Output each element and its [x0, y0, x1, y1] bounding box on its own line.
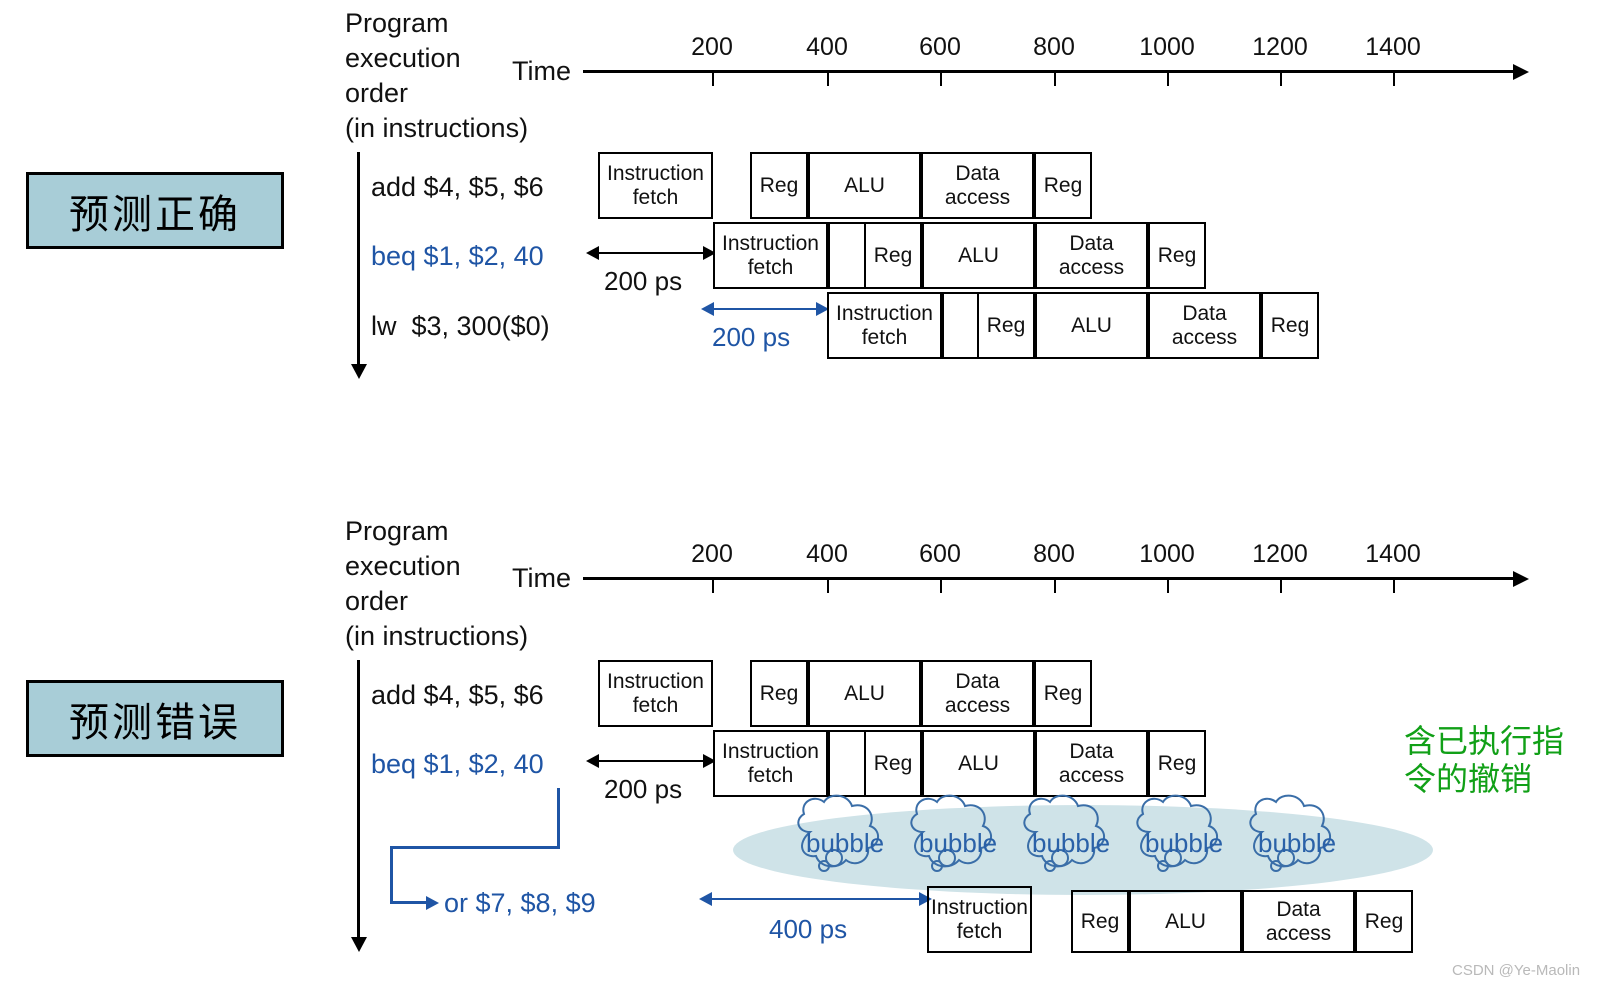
- axis-tick-label: 800: [1014, 33, 1094, 62]
- time-axis-label-bottom: Time: [512, 563, 571, 594]
- measure-arrow-line: [597, 252, 707, 254]
- time-axis-label-top: Time: [512, 56, 571, 87]
- instruction-label: or $7, $8, $9: [444, 888, 596, 919]
- branch-redirect-arrow-tip: [426, 896, 439, 910]
- stage-data-access: Dataaccess: [1035, 730, 1148, 797]
- bubble-label: bubble: [1032, 828, 1110, 859]
- branch-redirect-horizontal-upper: [390, 846, 560, 849]
- axis-tick-label: 1200: [1235, 540, 1325, 569]
- branch-redirect-vertical-lower: [390, 846, 393, 903]
- axis-tick: [1167, 73, 1169, 86]
- program-order-arrow-line-top: [357, 152, 360, 364]
- axis-tick-label: 600: [900, 540, 980, 569]
- axis-tick: [1280, 73, 1282, 86]
- measure-label: 200 ps: [712, 322, 790, 353]
- measure-label: 200 ps: [604, 266, 682, 297]
- axis-tick: [1393, 580, 1395, 593]
- instruction-label: add $4, $5, $6: [371, 172, 544, 203]
- stage-data-access: Dataaccess: [1148, 292, 1261, 359]
- stage-data-access: Dataaccess: [921, 660, 1034, 727]
- axis-tick-label: 1000: [1122, 540, 1212, 569]
- time-axis-arrowhead-bottom: [1513, 571, 1529, 587]
- time-axis-arrowhead-top: [1513, 64, 1529, 80]
- axis-tick-label: 1400: [1348, 540, 1438, 569]
- instruction-label: beq $1, $2, 40: [371, 749, 544, 780]
- stage-instruction-fetch: Instructionfetch: [713, 222, 828, 289]
- measure-arrow-tip-left: [586, 246, 599, 260]
- axis-tick-label: 1400: [1348, 33, 1438, 62]
- label-box-predict-wrong-text: 预测错误: [69, 690, 241, 748]
- stage-alu: ALU: [1129, 890, 1242, 953]
- axis-tick-label: 1200: [1235, 33, 1325, 62]
- stage-instruction-fetch: Instructionfetch: [713, 730, 828, 797]
- stage-reg: Reg: [1148, 730, 1206, 797]
- stage-reg: Reg: [750, 660, 808, 727]
- branch-redirect-vertical-upper: [557, 788, 560, 849]
- axis-tick: [712, 580, 714, 593]
- axis-tick: [1167, 580, 1169, 593]
- time-axis-line-bottom: [583, 577, 1513, 580]
- stage-instruction-fetch: Instructionfetch: [598, 660, 713, 727]
- axis-tick-label: 200: [672, 33, 752, 62]
- label-box-predict-correct-text: 预测正确: [69, 182, 241, 240]
- label-box-predict-correct: 预测正确: [26, 172, 284, 249]
- stage-reg: Reg: [750, 152, 808, 219]
- axis-tick: [940, 73, 942, 86]
- measure-label: 200 ps: [604, 774, 682, 805]
- axis-tick: [940, 580, 942, 593]
- stage-instruction-fetch: Instructionfetch: [598, 152, 713, 219]
- instruction-label: lw $3, 300($0): [371, 311, 550, 342]
- stage-instruction-fetch: Instructionfetch: [827, 292, 942, 359]
- program-order-arrow-line-bottom: [357, 660, 360, 937]
- axis-tick-label: 400: [787, 33, 867, 62]
- axis-tick: [712, 73, 714, 86]
- bubble-label: bubble: [1258, 828, 1336, 859]
- stage-instruction-fetch: Instructionfetch: [927, 886, 1032, 953]
- axis-tick-label: 800: [1014, 540, 1094, 569]
- axis-tick-label: 400: [787, 540, 867, 569]
- stage-data-access: Dataaccess: [1242, 890, 1355, 953]
- stage-alu: ALU: [808, 660, 921, 727]
- stage-alu: ALU: [1035, 292, 1148, 359]
- stage-alu: ALU: [922, 730, 1035, 797]
- axis-tick: [827, 73, 829, 86]
- measure-arrow-line: [597, 760, 707, 762]
- stage-reg: Reg: [864, 222, 922, 289]
- axis-tick: [1054, 73, 1056, 86]
- stage-reg: Reg: [1261, 292, 1319, 359]
- stage-data-access: Dataaccess: [1035, 222, 1148, 289]
- bubble-label: bubble: [919, 828, 997, 859]
- stage-alu: ALU: [922, 222, 1035, 289]
- stage-reg: Reg: [1034, 660, 1092, 727]
- bubble-label: bubble: [1145, 828, 1223, 859]
- program-order-arrow-tip-bottom: [351, 937, 367, 952]
- bubble-label: bubble: [806, 828, 884, 859]
- measure-label: 400 ps: [769, 914, 847, 945]
- measure-arrow-line: [712, 308, 819, 310]
- measure-arrow-tip-left: [699, 892, 712, 906]
- stage-reg: Reg: [977, 292, 1035, 359]
- stage-reg: Reg: [864, 730, 922, 797]
- label-box-predict-wrong: 预测错误: [26, 680, 284, 757]
- watermark: CSDN @Ye-Maolin: [1452, 962, 1580, 979]
- axis-tick: [1280, 580, 1282, 593]
- axis-tick-label: 1000: [1122, 33, 1212, 62]
- measure-arrow-line: [711, 898, 923, 900]
- axis-tick-label: 200: [672, 540, 752, 569]
- stage-reg: Reg: [1034, 152, 1092, 219]
- stage-alu: ALU: [808, 152, 921, 219]
- program-order-arrow-tip-top: [351, 364, 367, 379]
- axis-tick: [1054, 580, 1056, 593]
- instruction-label: beq $1, $2, 40: [371, 241, 544, 272]
- branch-redirect-horizontal-lower: [390, 901, 428, 904]
- measure-arrow-tip-left: [586, 754, 599, 768]
- axis-tick: [1393, 73, 1395, 86]
- axis-tick: [827, 580, 829, 593]
- stage-data-access: Dataaccess: [921, 152, 1034, 219]
- stage-reg: Reg: [1071, 890, 1129, 953]
- green-annotation: 含已执行指令的撤销: [1404, 722, 1603, 798]
- measure-arrow-tip-left: [701, 302, 714, 316]
- stage-reg: Reg: [1148, 222, 1206, 289]
- stage-reg: Reg: [1355, 890, 1413, 953]
- instruction-label: add $4, $5, $6: [371, 680, 544, 711]
- time-axis-line-top: [583, 70, 1513, 73]
- axis-tick-label: 600: [900, 33, 980, 62]
